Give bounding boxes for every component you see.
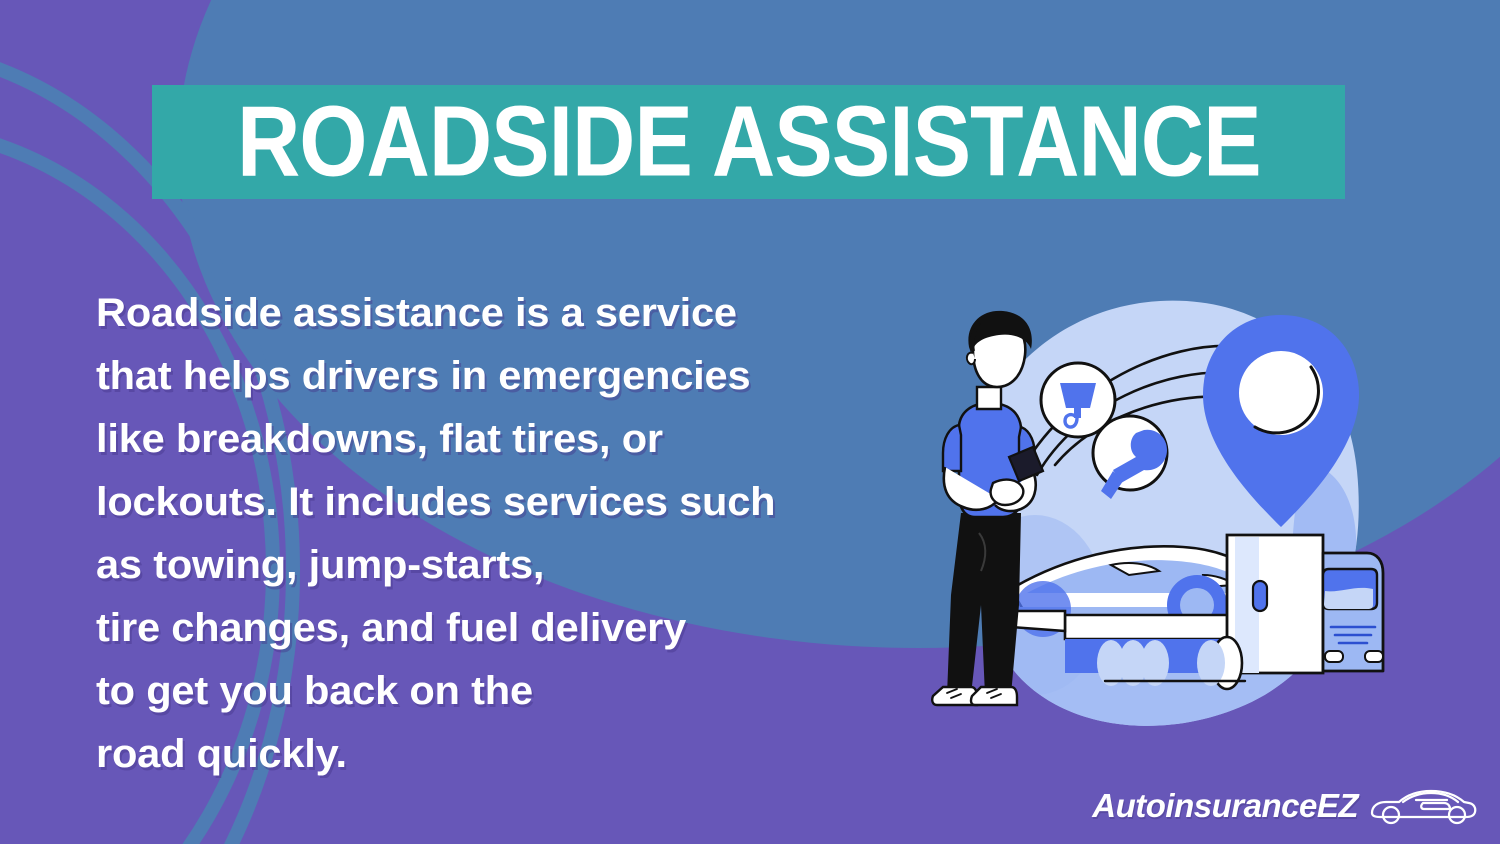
title-banner: ROADSIDE ASSISTANCE — [152, 85, 1345, 199]
car-outline-icon — [1368, 784, 1478, 826]
page-title: ROADSIDE ASSISTANCE — [237, 92, 1261, 192]
body-line-7: to get you back on the — [96, 660, 980, 723]
brand-logo[interactable]: AutoinsuranceEZ — [1092, 784, 1478, 826]
body-line-4: lockouts. It includes services such — [96, 471, 980, 534]
body-line-5: as towing, jump-starts, — [96, 534, 980, 597]
body-copy: Roadside assistance is a service that he… — [96, 282, 980, 786]
body-line-2: that helps drivers in emergencies — [96, 345, 980, 408]
body-line-3: like breakdowns, flat tires, or — [96, 408, 980, 471]
body-line-6: tire changes, and fuel delivery — [96, 597, 980, 660]
body-line-1: Roadside assistance is a service — [96, 282, 980, 345]
brand-name: AutoinsuranceEZ — [1092, 789, 1358, 822]
roadside-assistance-illustration — [915, 275, 1385, 745]
body-line-8: road quickly. — [96, 723, 980, 786]
infographic-canvas: ROADSIDE ASSISTANCE Roadside assistance … — [0, 0, 1500, 844]
